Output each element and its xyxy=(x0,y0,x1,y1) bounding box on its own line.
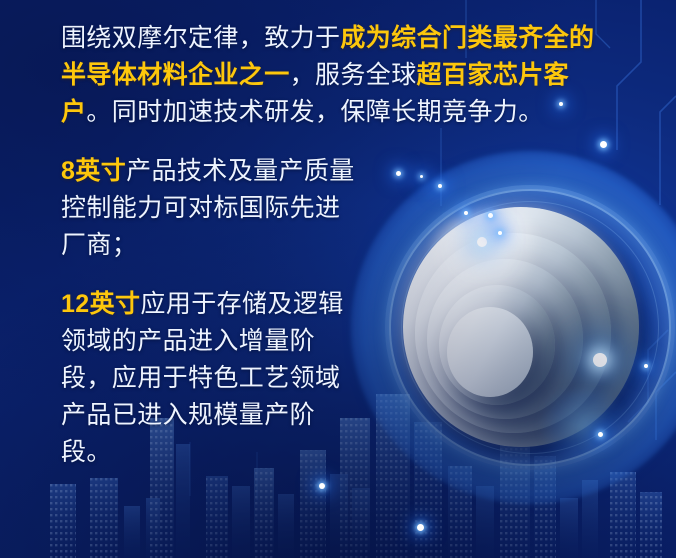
paragraph-3: 12英寸应用于存储及逻辑领域的产品进入增量阶段，应用于特色工艺领域产品已进入规模… xyxy=(61,286,361,471)
paragraph-1-run-3: ，服务全球 xyxy=(290,61,417,89)
poster-copy: 围绕双摩尔定律，致力于成为综合门类最齐全的半导体材料企业之一，服务全球超百家芯片… xyxy=(61,20,621,471)
paragraph-1-run-5: 。同时加速技术研发，保障长期竞争力。 xyxy=(86,98,543,126)
sparkle-dot xyxy=(417,524,424,531)
poster-root: 围绕双摩尔定律，致力于成为综合门类最齐全的半导体材料企业之一，服务全球超百家芯片… xyxy=(0,0,676,558)
paragraph-1-run-1: 围绕双摩尔定律，致力于 xyxy=(61,24,340,52)
paragraph-2-run-1-highlight: 8英寸 xyxy=(61,157,126,185)
paragraph-2: 8英寸产品技术及量产质量控制能力可对标国际先进厂商； xyxy=(61,153,361,264)
sparkle-dot xyxy=(319,483,325,489)
sparkle-dot xyxy=(644,364,648,368)
paragraph-1: 围绕双摩尔定律，致力于成为综合门类最齐全的半导体材料企业之一，服务全球超百家芯片… xyxy=(61,20,613,131)
paragraph-3-run-1-highlight: 12英寸 xyxy=(61,290,140,318)
